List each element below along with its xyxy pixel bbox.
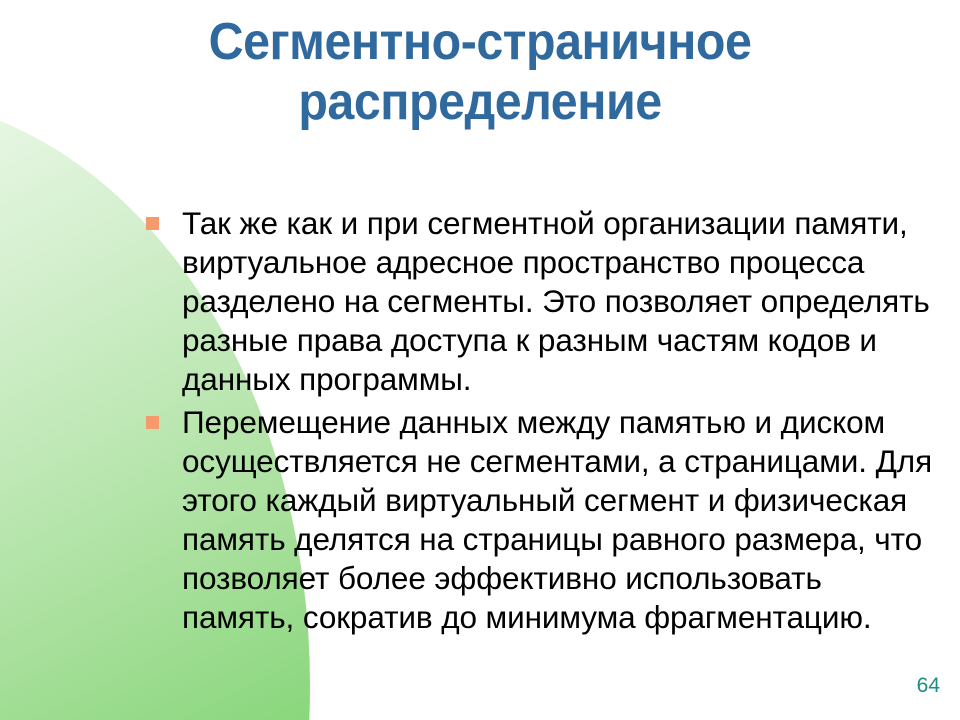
slide-title-line-1: Сегментно-страничное: [89, 12, 870, 72]
presentation-slide: Сегментно-страничное распределение Так ж…: [0, 0, 960, 720]
square-bullet-icon: [146, 416, 159, 429]
square-bullet-icon: [146, 217, 159, 230]
slide-title: Сегментно-страничное распределение: [60, 12, 900, 132]
bullet-text: Перемещение данных между памятью и диско…: [182, 403, 936, 637]
list-item: Так же как и при сегментной организации …: [146, 204, 936, 399]
list-item: Перемещение данных между памятью и диско…: [146, 403, 936, 637]
slide-number: 64: [917, 674, 940, 698]
bullet-text: Так же как и при сегментной организации …: [182, 204, 936, 399]
slide-body: Так же как и при сегментной организации …: [146, 204, 936, 641]
slide-title-line-2: распределение: [89, 72, 870, 132]
